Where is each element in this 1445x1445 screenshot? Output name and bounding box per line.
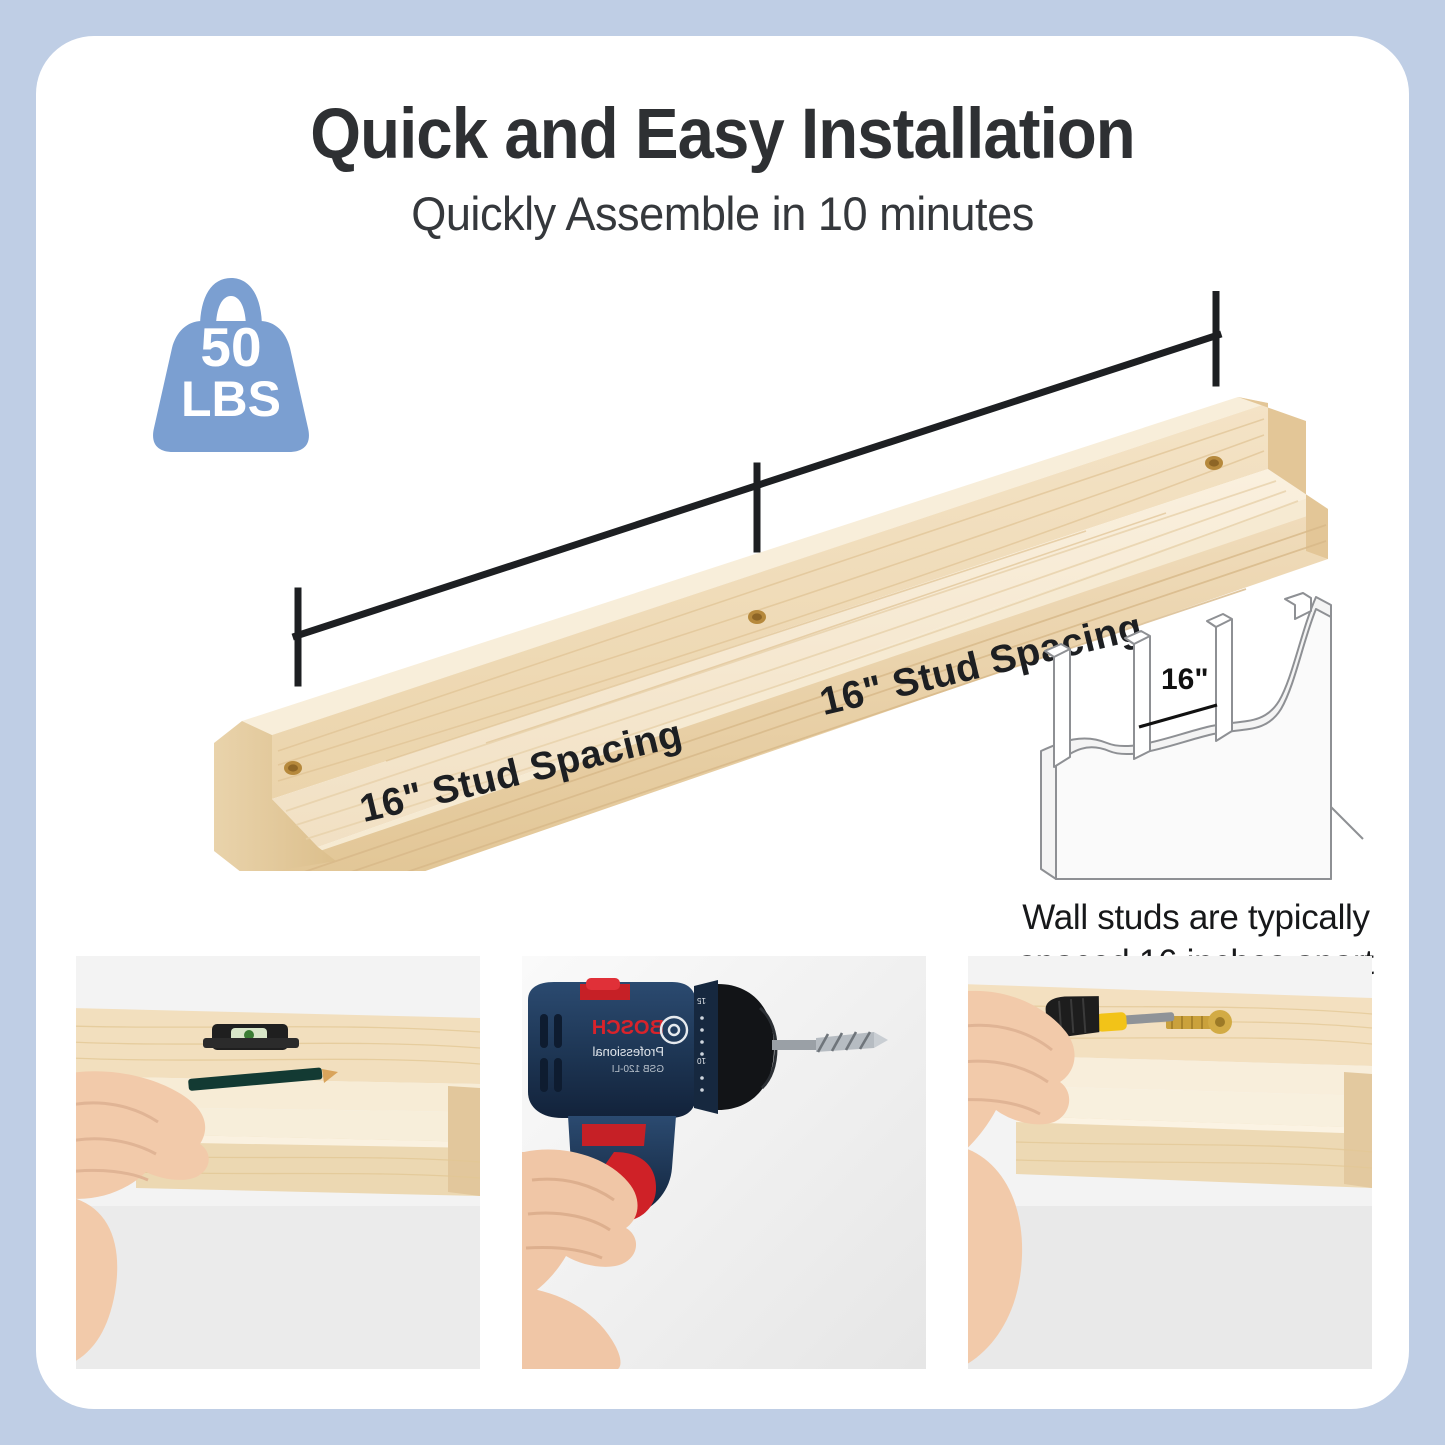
drive-screws-photo [968,956,1372,1369]
drill-line-label: Professional [592,1044,664,1059]
step-photo-drill: BOSCH Professional GSB 120-LI [522,956,926,1369]
drill-holes-photo: BOSCH Professional GSB 120-LI [522,956,926,1369]
installation-steps: BOSCH Professional GSB 120-LI [76,956,1372,1371]
drill-brand-label: BOSCH [592,1017,664,1039]
step-photo-screw [968,956,1372,1369]
page-subtitle: Quickly Assemble in 10 minutes [63,186,1381,241]
drill-model-label: GSB 120-LI [612,1064,664,1075]
wall-stud-diagram: 16" [1011,591,1381,896]
stud-caption-line-1: Wall studs are typically [1022,898,1369,937]
bubble-level-icon [203,1024,299,1050]
svg-text:10: 10 [697,1056,706,1065]
svg-text:15: 15 [697,996,706,1005]
content-card: Quick and Easy Installation Quickly Asse… [36,36,1409,1409]
page-title: Quick and Easy Installation [91,94,1354,175]
mark-drill-points-photo [76,956,480,1369]
step-photo-mark [76,956,480,1369]
stud-dimension-label: 16" [1161,663,1209,696]
infographic-root: Quick and Easy Installation Quickly Asse… [0,0,1445,1445]
wall-stud-illustration: 16" [1011,591,1381,896]
